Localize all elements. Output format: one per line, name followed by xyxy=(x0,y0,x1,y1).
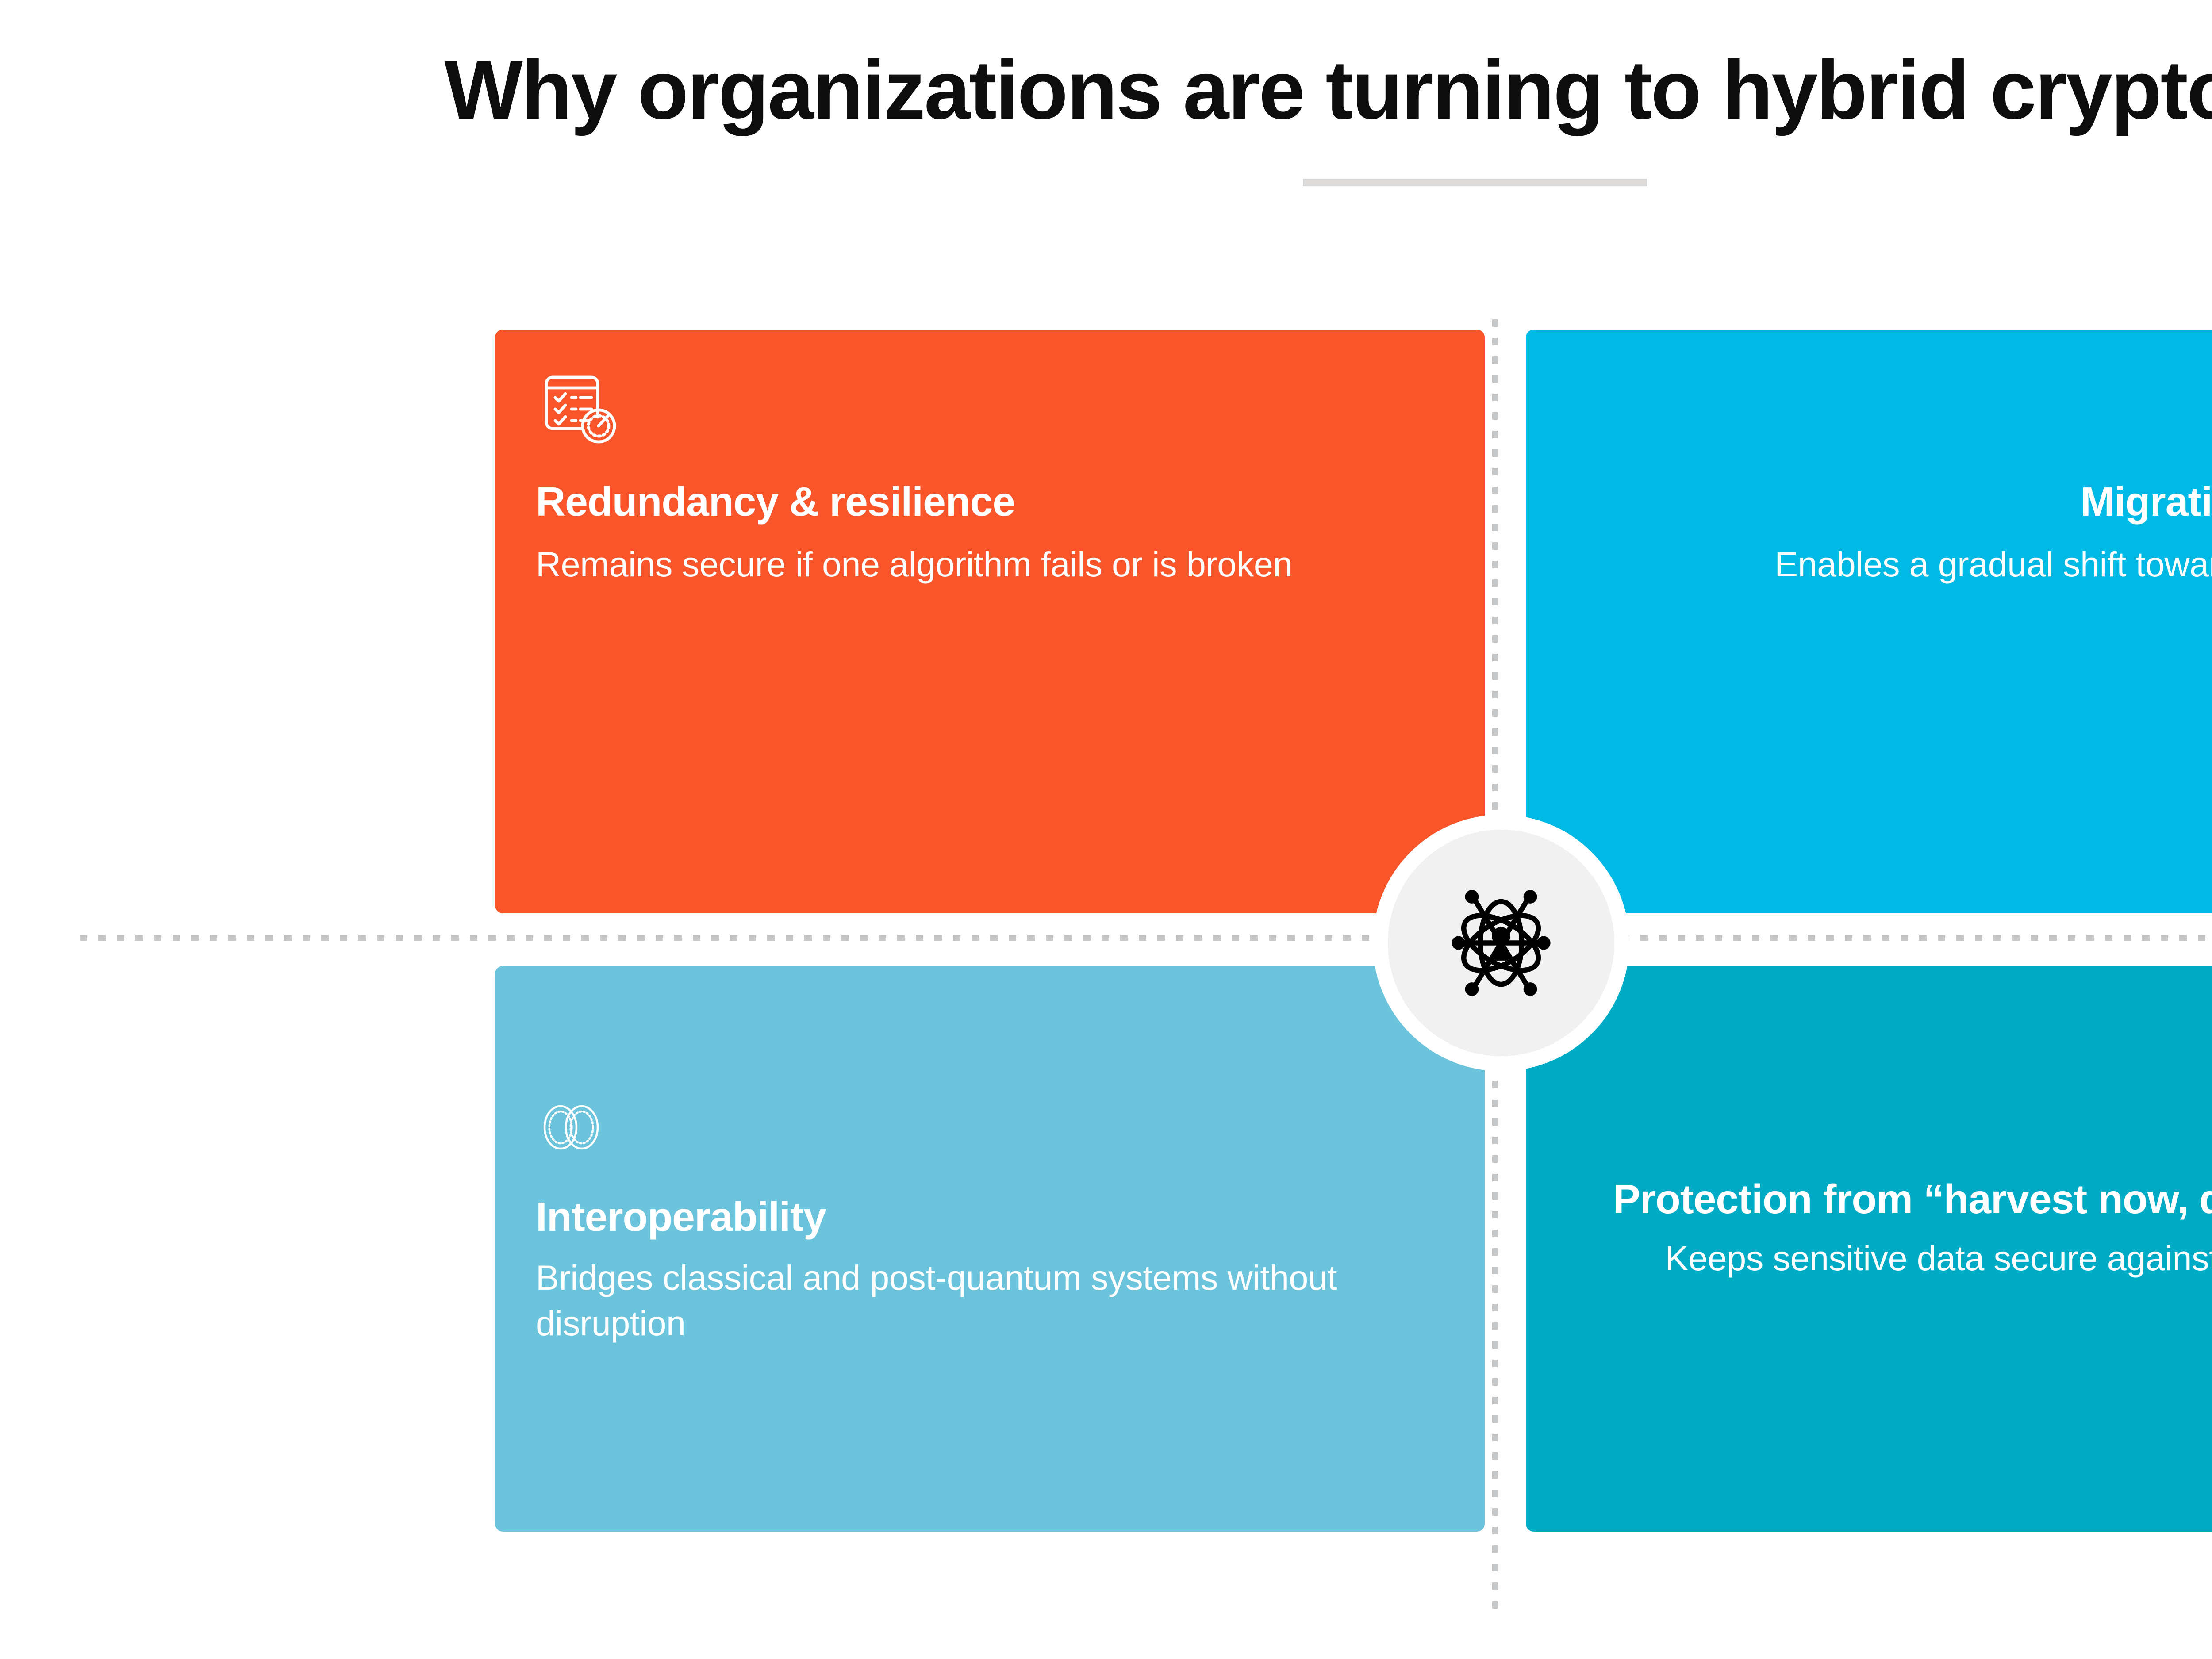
quadrant-card-harvest[interactable]: Protection from “harvest now, decrypt la… xyxy=(1526,966,2212,1532)
icon-row xyxy=(1567,364,2212,457)
card-title: Protection from “harvest now, decrypt la… xyxy=(1567,1176,2212,1222)
card-description: Bridges classical and post-quantum syste… xyxy=(536,1255,1444,1346)
overlapping-circles-icon xyxy=(536,1099,607,1156)
card-title: Interoperability xyxy=(536,1193,1444,1240)
quadrant-card-migration[interactable]: Migration readiness Enables a gradual sh… xyxy=(1526,330,2212,913)
quadrant-card-interoperability[interactable]: Interoperability Bridges classical and p… xyxy=(495,966,1485,1532)
quadrant-card-redundancy[interactable]: Redundancy & resilience Remains secure i… xyxy=(495,330,1485,913)
checklist-gauge-icon xyxy=(536,364,624,452)
title-accent-bar xyxy=(1303,179,1647,186)
card-description: Keeps sensitive data secure against futu… xyxy=(1567,1236,2212,1326)
divider-horizontal xyxy=(80,935,2212,941)
icon-row xyxy=(536,1099,1444,1174)
infographic-canvas: Why organizations are turning to hybrid … xyxy=(0,0,2212,1659)
card-description: Enables a gradual shift toward post-quan… xyxy=(1567,542,2212,632)
icon-row xyxy=(536,364,1444,457)
center-hub xyxy=(1373,815,1629,1071)
card-title: Redundancy & resilience xyxy=(536,478,1444,525)
card-description: Remains secure if one algorithm fails or… xyxy=(536,542,1444,587)
atom-keyhole-icon xyxy=(1428,870,1574,1016)
page-title: Why organizations are turning to hybrid … xyxy=(0,46,2212,134)
icon-row xyxy=(1567,1068,2212,1161)
card-title: Migration readiness xyxy=(1567,478,2212,525)
